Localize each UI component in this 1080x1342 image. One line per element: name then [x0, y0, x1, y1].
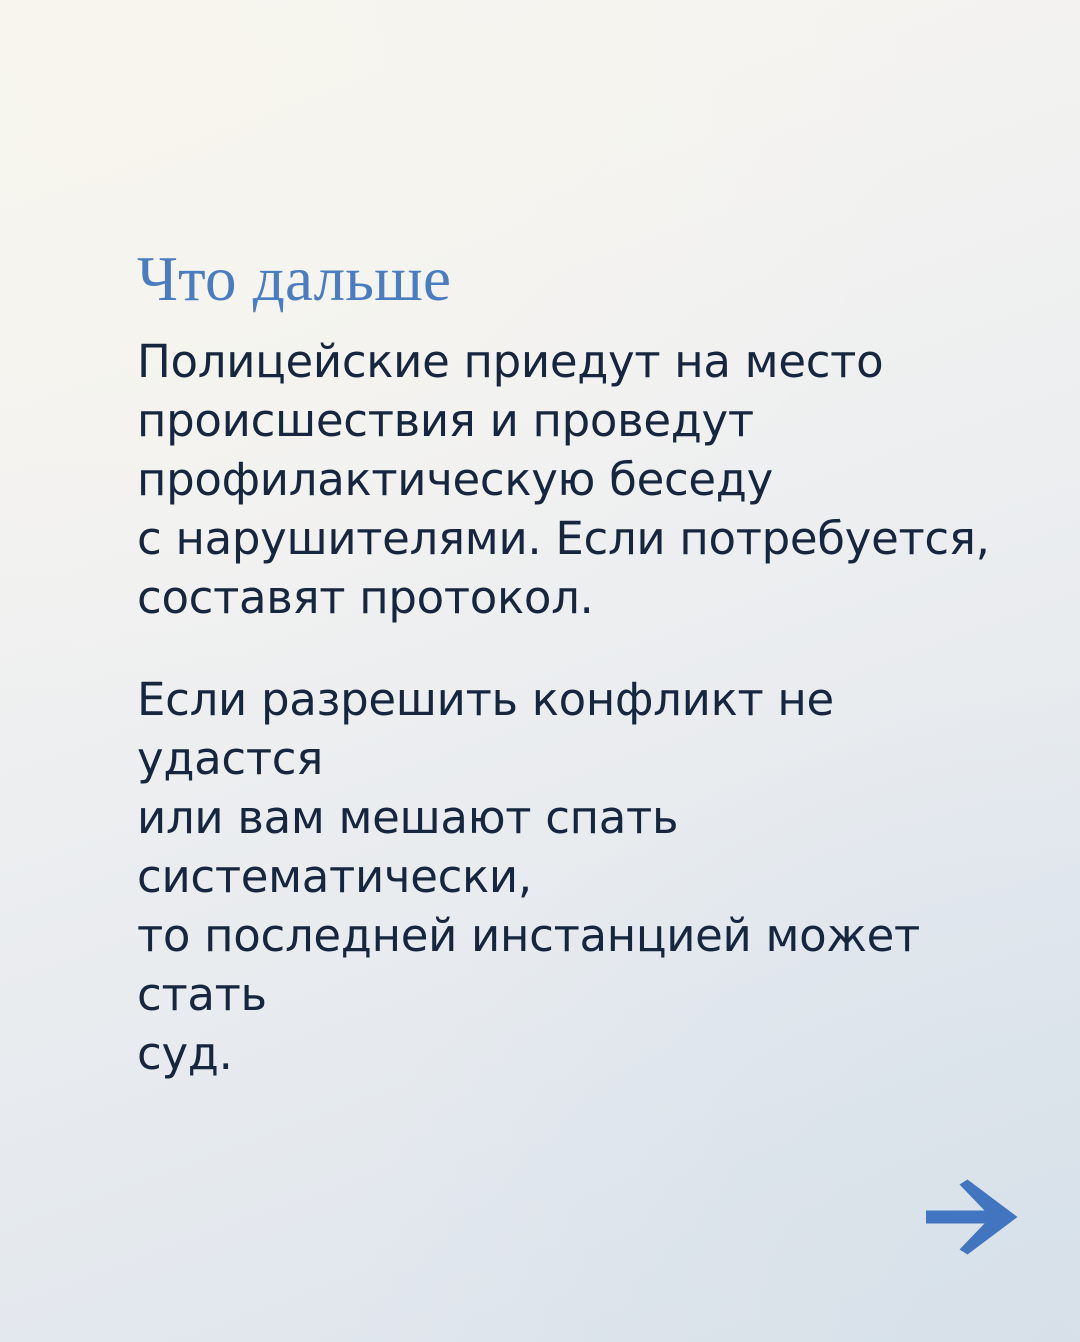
page-title: Что дальше [137, 246, 1007, 312]
next-slide-button[interactable] [924, 1178, 1020, 1256]
slide-canvas: Что дальше Полицейские приедут на место … [0, 0, 1080, 1342]
paragraph-1: Полицейские приедут на место происшестви… [137, 332, 1007, 627]
paragraph-2: Если разрешить конфликт не удастся или в… [137, 670, 1007, 1083]
content-block: Что дальше Полицейские приедут на место … [137, 246, 1007, 1083]
body-copy: Полицейские приедут на место происшестви… [137, 332, 1007, 1083]
arrow-right-icon [924, 1178, 1020, 1256]
